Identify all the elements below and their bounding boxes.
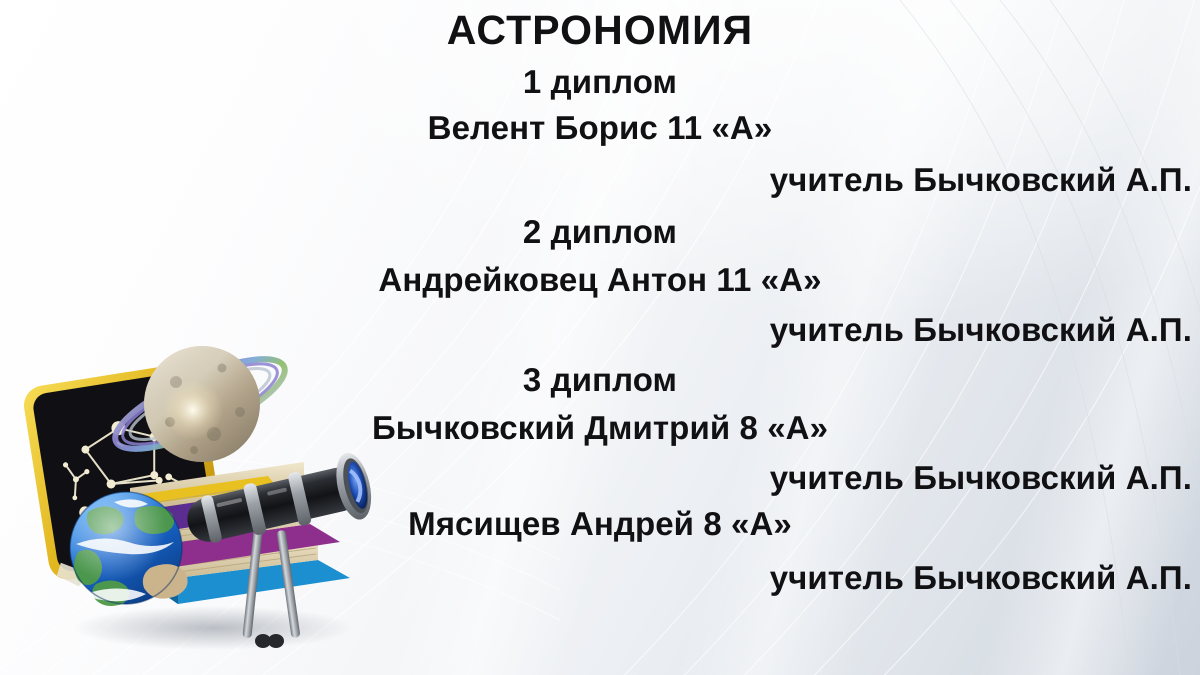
award-student-4: Мясищев Андрей 8 «А» (0, 506, 1200, 542)
award-student-2: Андрейковец Антон 11 «А» (0, 262, 1200, 298)
award-label-1: 1 диплом (0, 64, 1200, 100)
award-label-2: 2 диплом (0, 214, 1200, 250)
award-student-1: Велент Борис 11 «А» (0, 110, 1200, 146)
award-student-3: Бычковский Дмитрий 8 «А» (0, 410, 1200, 446)
award-teacher-3: учитель Бычковский А.П. (770, 460, 1192, 496)
award-teacher-4: учитель Бычковский А.П. (770, 560, 1192, 596)
slide-text-block: АСТРОНОМИЯ 1 диплом Велент Борис 11 «А» … (0, 0, 1200, 675)
page-title: АСТРОНОМИЯ (0, 8, 1200, 52)
award-label-3: 3 диплом (0, 362, 1200, 398)
presentation-slide: АСТРОНОМИЯ 1 диплом Велент Борис 11 «А» … (0, 0, 1200, 675)
award-teacher-1: учитель Бычковский А.П. (770, 162, 1192, 198)
award-teacher-2: учитель Бычковский А.П. (770, 312, 1192, 348)
